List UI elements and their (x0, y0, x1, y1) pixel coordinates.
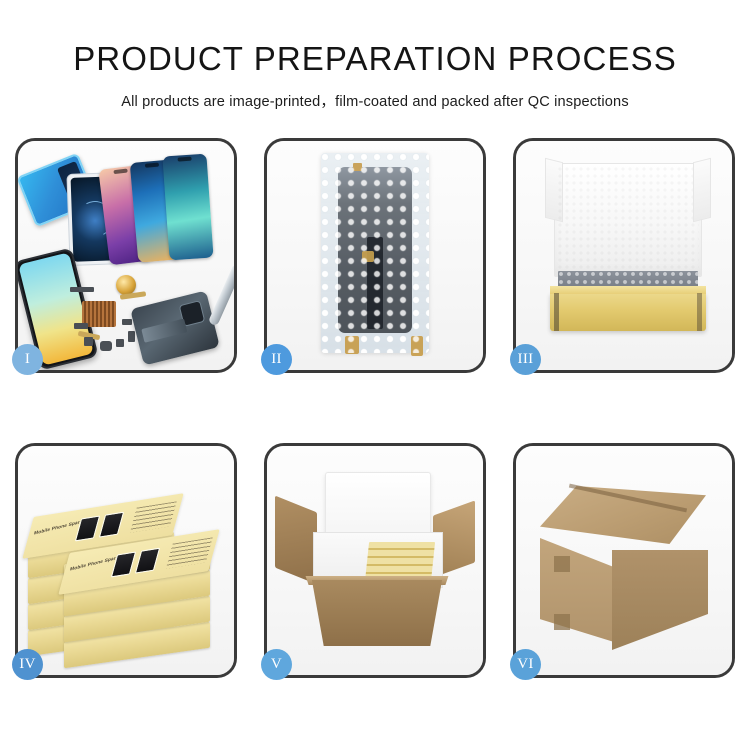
phone-graphic-3 (162, 154, 213, 261)
notch-icon (145, 163, 159, 168)
process-step-panel-2[interactable]: II (264, 138, 486, 373)
small-part-graphic (84, 337, 93, 346)
small-part-graphic (100, 341, 112, 351)
carton-right-panel (612, 550, 708, 650)
phone-chassis-graphic (130, 290, 220, 365)
small-part-graphic (74, 323, 88, 329)
panel-image-1 (18, 141, 234, 370)
kraft-tray-graphic (550, 293, 706, 331)
process-step-panel-3[interactable]: III (513, 138, 735, 373)
header: PRODUCT PREPARATION PROCESS All products… (0, 0, 750, 111)
step-badge-2: II (261, 344, 292, 375)
process-step-panel-4[interactable]: Mobile Phone Spare Parts Mobile Phone Sp… (15, 443, 237, 678)
step-badge-5: V (261, 649, 292, 680)
box-window (135, 548, 160, 574)
carton-front-panel (303, 580, 451, 646)
notch-icon (177, 157, 191, 162)
panel-image-4: Mobile Phone Spare Parts Mobile Phone Sp… (18, 446, 234, 675)
carton-tape-patch (554, 614, 570, 630)
small-part-graphic (353, 163, 362, 171)
small-part-graphic (116, 339, 124, 347)
tray-edge-left (554, 293, 559, 331)
process-step-grid: I II (15, 138, 735, 678)
battery-strip-graphic (141, 319, 187, 343)
page-subtitle: All products are image-printed，film-coat… (0, 77, 750, 111)
box-spec-lines (130, 501, 177, 532)
tweezers-graphic (208, 266, 234, 327)
process-step-panel-1[interactable]: I (15, 138, 237, 373)
carton-tape-patch (554, 556, 570, 572)
process-step-panel-5[interactable]: V (264, 443, 486, 678)
gold-connector-graphic (411, 336, 423, 356)
box-stack-graphic: Mobile Phone Spare Parts Mobile Phone Sp… (28, 470, 228, 660)
gold-connector-graphic (362, 251, 374, 262)
carton-left-panel (540, 538, 614, 642)
step-badge-3: III (510, 344, 541, 375)
small-part-graphic (122, 319, 132, 325)
product-preparation-infographic: PRODUCT PREPARATION PROCESS All products… (0, 0, 750, 750)
page-title: PRODUCT PREPARATION PROCESS (0, 0, 750, 77)
step-badge-6: VI (510, 649, 541, 680)
box-spec-lines (166, 537, 213, 568)
step-badge-4: IV (12, 649, 43, 680)
panel-image-5 (267, 446, 483, 675)
foam-texture (557, 166, 699, 274)
small-part-graphic (128, 331, 135, 342)
carton-flap-left (275, 496, 317, 585)
panel-image-6 (516, 446, 732, 675)
foam-lid-graphic (554, 163, 702, 277)
gold-connector-graphic (345, 336, 359, 354)
notch-icon (113, 168, 127, 174)
tray-edge-right (697, 293, 702, 331)
panel-image-3 (516, 141, 732, 370)
box-window (99, 512, 124, 538)
panel-image-2 (267, 141, 483, 370)
phone-parts-scene (18, 141, 234, 370)
step-badge-1: I (12, 344, 43, 375)
process-step-panel-6[interactable]: VI (513, 443, 735, 678)
small-part-graphic (70, 287, 94, 292)
